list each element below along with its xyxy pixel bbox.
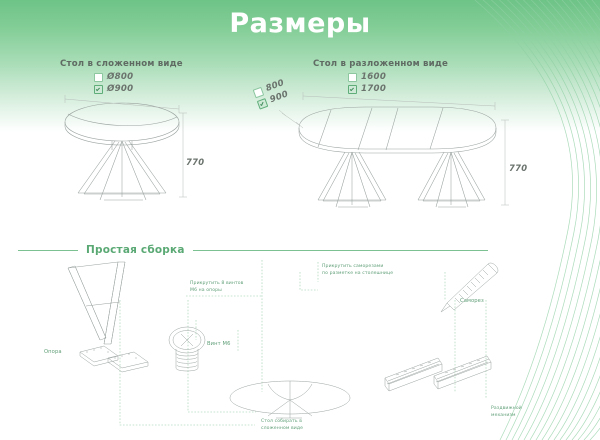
note-selftapping-line-1: Прикрутить саморезами — [322, 264, 393, 271]
checkbox-checked-icon[interactable] — [257, 98, 269, 110]
caption-unfolded-table: Стол в разложенном виде — [313, 59, 448, 69]
unfolded-length-options: 1600 1700 — [348, 71, 386, 95]
option-label: Ø900 — [107, 85, 133, 94]
note-assemble-folded: Стол собирать в сложенном виде — [261, 419, 303, 432]
option-row[interactable]: 1700 — [348, 83, 386, 95]
caption-folded-table: Стол в сложенном виде — [60, 59, 183, 69]
note-bolts-line-2: М6 на опоры — [190, 288, 243, 295]
note-selftapping-line-2: по разметке на столешнице — [322, 271, 393, 278]
divider-rule-right — [193, 250, 488, 251]
note-selftapping: Прикрутить саморезами по разметке на сто… — [322, 264, 393, 277]
m6-bolt-drawing — [169, 327, 205, 371]
assembled-table-drawing — [230, 381, 350, 418]
option-label: 1700 — [361, 85, 386, 94]
option-row[interactable]: Ø900 — [94, 83, 133, 95]
support-leg-drawing — [68, 262, 148, 372]
option-label: Ø800 — [107, 73, 133, 82]
label-extension-mechanism-line-2: механизм — [491, 413, 522, 420]
divider-rule-left — [18, 250, 78, 251]
page-title: Размеры — [0, 8, 600, 39]
option-row[interactable]: 1600 — [348, 71, 386, 83]
infographic-page: Размеры Стол в сложенном виде Стол в раз… — [0, 0, 600, 440]
note-bolts: Прикрутить 8 винтов М6 на опоры — [190, 281, 243, 294]
label-extension-mechanism: Раздвижной механизм — [491, 406, 522, 419]
note-bolts-line-1: Прикрутить 8 винтов — [190, 281, 243, 288]
checkbox-unchecked-icon[interactable] — [348, 73, 357, 82]
assembly-connector-lines — [120, 260, 486, 425]
extension-mechanism-drawing — [385, 356, 491, 391]
label-extension-mechanism-line-1: Раздвижной — [491, 406, 522, 413]
unfolded-height-dimension-label: 770 — [509, 163, 527, 173]
assembly-section-divider: Простая сборка — [18, 243, 488, 257]
assembly-section-title: Простая сборка — [86, 244, 185, 256]
option-row[interactable]: Ø800 — [94, 71, 133, 83]
note-assemble-folded-line-1: Стол собирать в — [261, 419, 303, 426]
label-screw: Саморез — [460, 298, 484, 306]
folded-diameter-options: Ø800 Ø900 — [94, 71, 133, 95]
label-bolt: Винт М6 — [207, 341, 230, 349]
note-assemble-folded-line-2: сложенном виде — [261, 426, 303, 433]
label-support: Опора — [44, 349, 62, 357]
checkbox-checked-icon[interactable] — [348, 85, 357, 94]
checkbox-unchecked-icon[interactable] — [94, 73, 103, 82]
folded-height-dimension-label: 770 — [186, 157, 204, 167]
option-label: 1600 — [361, 73, 386, 82]
checkbox-checked-icon[interactable] — [94, 85, 103, 94]
